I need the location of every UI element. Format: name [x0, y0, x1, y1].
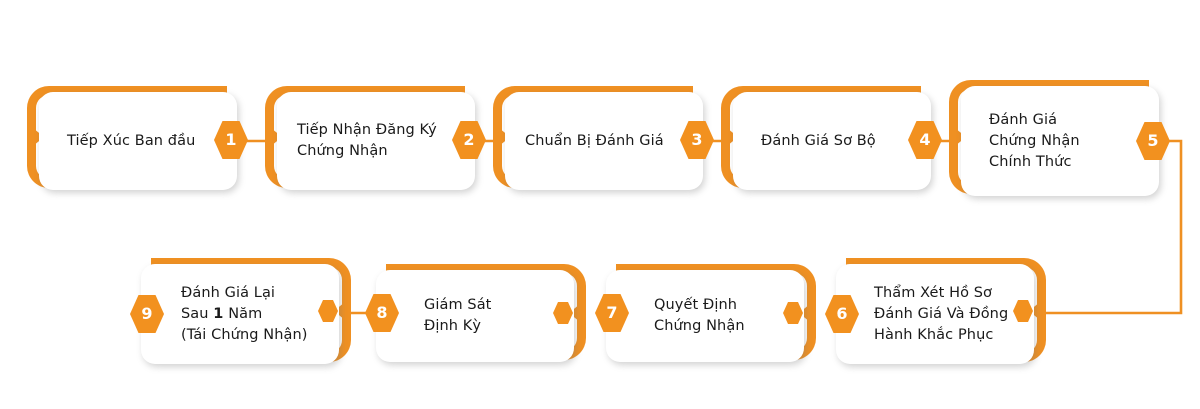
step-card-1[interactable]: Tiếp Xúc Ban đầu — [39, 92, 237, 190]
step-card-6[interactable]: Thẩm Xét Hồ Sơ Đánh Giá Và Đồng Hành Khắ… — [836, 264, 1034, 364]
flowchart-diagram: Tiếp Xúc Ban đầu 1 Tiếp Nhận Đăng Ký Chứ… — [0, 0, 1200, 409]
step-card-3[interactable]: Chuẩn Bị Đánh Giá — [505, 92, 703, 190]
step-number-2: 2 — [463, 132, 474, 148]
step-label-3: Chuẩn Bị Đánh Giá — [525, 131, 664, 152]
step-card-4[interactable]: Đánh Giá Sơ Bộ — [733, 92, 931, 190]
step-label-8: Giám Sát Định Kỳ — [424, 295, 491, 337]
step-label-2: Tiếp Nhận Đăng Ký Chứng Nhận — [297, 120, 437, 162]
step-number-6: 6 — [836, 306, 847, 322]
step-card-2[interactable]: Tiếp Nhận Đăng Ký Chứng Nhận — [277, 92, 475, 190]
step-label-1: Tiếp Xúc Ban đầu — [67, 131, 195, 152]
step-card-5[interactable]: Đánh Giá Chứng Nhận Chính Thức — [961, 86, 1159, 196]
step-number-8: 8 — [376, 305, 387, 321]
step-number-7: 7 — [606, 305, 617, 321]
step-card-9[interactable]: Đánh Giá LạiSau 1 Năm(Tái Chứng Nhận) — [141, 264, 339, 364]
step-label-5: Đánh Giá Chứng Nhận Chính Thức — [989, 110, 1080, 173]
step-card-8[interactable]: Giám Sát Định Kỳ — [376, 270, 574, 362]
step-card-7[interactable]: Quyết Định Chứng Nhận — [606, 270, 804, 362]
step-node-5[interactable]: Đánh Giá Chứng Nhận Chính Thức 5 — [949, 80, 1164, 202]
step-node-8[interactable]: Giám Sát Định Kỳ 8 — [371, 264, 586, 368]
step-node-4[interactable]: Đánh Giá Sơ Bộ 4 — [721, 86, 936, 196]
step-node-9[interactable]: Đánh Giá LạiSau 1 Năm(Tái Chứng Nhận) 9 — [136, 258, 351, 370]
step-label-9: Đánh Giá LạiSau 1 Năm(Tái Chứng Nhận) — [181, 283, 308, 346]
step-node-1[interactable]: Tiếp Xúc Ban đầu 1 — [27, 86, 242, 196]
step-number-5: 5 — [1147, 133, 1158, 149]
step-node-7[interactable]: Quyết Định Chứng Nhận 7 — [601, 264, 816, 368]
step-number-4: 4 — [919, 132, 930, 148]
step-node-6[interactable]: Thẩm Xét Hồ Sơ Đánh Giá Và Đồng Hành Khắ… — [831, 258, 1046, 370]
step-number-9: 9 — [141, 306, 152, 322]
step-label-4: Đánh Giá Sơ Bộ — [761, 131, 876, 152]
step-number-3: 3 — [691, 132, 702, 148]
step-node-2[interactable]: Tiếp Nhận Đăng Ký Chứng Nhận 2 — [265, 86, 480, 196]
step-number-1: 1 — [225, 132, 236, 148]
step-label-6: Thẩm Xét Hồ Sơ Đánh Giá Và Đồng Hành Khắ… — [874, 283, 1008, 346]
step-label-7: Quyết Định Chứng Nhận — [654, 295, 745, 337]
step-node-3[interactable]: Chuẩn Bị Đánh Giá 3 — [493, 86, 708, 196]
